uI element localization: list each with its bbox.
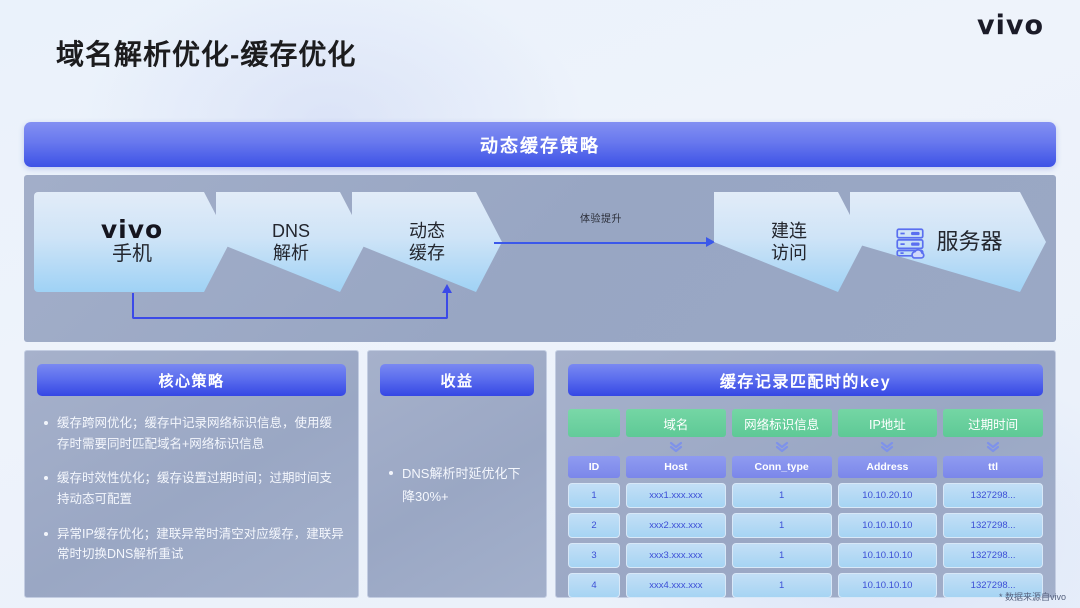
banner-title: 动态缓存策略 [480, 132, 600, 158]
key-mapping-arrows [568, 440, 1043, 454]
flow-step-2-line1: 动态 [409, 220, 445, 243]
arrow-head-icon [706, 237, 715, 247]
cell-host: xxx3.xxx.xxx [626, 543, 726, 568]
bullet-dot-icon [44, 532, 48, 536]
key-label-domain: 域名 [626, 409, 726, 437]
cache-key-header: 缓存记录匹配时的key [568, 364, 1043, 396]
cell-conn-type: 1 [732, 573, 832, 598]
core-strategy-title: 核心策略 [158, 370, 224, 391]
flow-step-dynamic-cache: 动态 缓存 [352, 192, 502, 292]
column-header-conn-type: Conn_type [732, 456, 832, 478]
footnote: * 数据来源自vivo [999, 590, 1066, 603]
flow-diagram-panel: vivo 手机 DNS 解析 动态 缓存 体验提升 建连 访问 [24, 175, 1056, 342]
cell-conn-type: 1 [732, 543, 832, 568]
chevron-down-icon [943, 440, 1043, 454]
arrow-line [494, 242, 712, 244]
list-item: DNS解析时延优化下降30%+ [386, 463, 532, 509]
cell-conn-type: 1 [732, 483, 832, 508]
cell-address: 10.10.10.10 [838, 543, 938, 568]
table-row: 4 xxx4.xxx.xxx 1 10.10.10.10 1327298... [568, 573, 1043, 598]
chevron-down-icon [732, 440, 832, 454]
column-header-address: Address [838, 456, 938, 478]
cache-key-card: 缓存记录匹配时的key 域名 网络标识信息 IP地址 过期时间 ID Host … [555, 350, 1056, 598]
key-label-expiry: 过期时间 [943, 409, 1043, 437]
page-title: 域名解析优化-缓存优化 [56, 33, 356, 73]
vivo-wordmark-icon: vivo [101, 217, 163, 242]
flow-step-1-line2: 解析 [273, 242, 309, 265]
list-item: 异常IP缓存优化；建联异常时清空对应缓存，建联异常时切换DNS解析重试 [41, 524, 344, 565]
bullet-dot-icon [44, 476, 48, 480]
spacer [568, 440, 620, 454]
feedback-loop-arrow [132, 293, 448, 319]
flow-step-4-label: 服务器 [936, 228, 1002, 256]
cell-id: 4 [568, 573, 620, 598]
list-item: 缓存跨网优化；缓存中记录网络标识信息，使用缓存时需要同时匹配域名+网络标识信息 [41, 413, 344, 454]
flow-step-vivo-phone: vivo 手机 [34, 192, 230, 292]
cell-address: 10.10.20.10 [838, 483, 938, 508]
flow-step-connect-access: 建连 访问 [714, 192, 864, 292]
core-strategy-header: 核心策略 [37, 364, 346, 396]
flow-step-3-line1: 建连 [771, 220, 807, 243]
list-item: 缓存时效性优化；缓存设置过期时间；过期时间支持动态可配置 [41, 468, 344, 509]
benefit-bullet-0: DNS解析时延优化下降30%+ [402, 463, 532, 509]
experience-improvement-arrow: 体验提升 [488, 192, 714, 292]
core-bullet-0: 缓存跨网优化；缓存中记录网络标识信息，使用缓存时需要同时匹配域名+网络标识信息 [57, 413, 344, 454]
core-strategy-bullets: 缓存跨网优化；缓存中记录网络标识信息，使用缓存时需要同时匹配域名+网络标识信息 … [41, 413, 344, 579]
cell-id: 1 [568, 483, 620, 508]
column-header-ttl: ttl [943, 456, 1043, 478]
table-row: 1 xxx1.xxx.xxx 1 10.10.20.10 1327298... [568, 483, 1043, 508]
key-label-network-id: 网络标识信息 [732, 409, 832, 437]
benefit-bullets: DNS解析时延优化下降30%+ [386, 463, 532, 523]
cell-conn-type: 1 [732, 513, 832, 538]
core-bullet-2: 异常IP缓存优化；建联异常时清空对应缓存，建联异常时切换DNS解析重试 [57, 524, 344, 565]
benefit-card: 收益 DNS解析时延优化下降30%+ [367, 350, 547, 598]
key-label-row: 域名 网络标识信息 IP地址 过期时间 [568, 409, 1043, 437]
cell-ttl: 1327298... [943, 483, 1043, 508]
table-row: 2 xxx2.xxx.xxx 1 10.10.10.10 1327298... [568, 513, 1043, 538]
key-label-id [568, 409, 620, 437]
cell-id: 2 [568, 513, 620, 538]
cell-address: 10.10.10.10 [838, 573, 938, 598]
bullet-dot-icon [44, 421, 48, 425]
flow-steps: vivo 手机 DNS 解析 动态 缓存 体验提升 建连 访问 [34, 192, 1046, 292]
chevron-down-icon [626, 440, 726, 454]
key-label-ip: IP地址 [838, 409, 938, 437]
table-header-row: ID Host Conn_type Address ttl [568, 456, 1043, 478]
core-bullet-1: 缓存时效性优化；缓存设置过期时间；过期时间支持动态可配置 [57, 468, 344, 509]
flow-step-dns-resolve: DNS 解析 [216, 192, 366, 292]
cell-host: xxx4.xxx.xxx [626, 573, 726, 598]
chevron-down-icon [838, 440, 938, 454]
cell-id: 3 [568, 543, 620, 568]
benefit-title: 收益 [440, 370, 473, 391]
flow-step-1-line1: DNS [272, 220, 310, 243]
cell-host: xxx2.xxx.xxx [626, 513, 726, 538]
benefit-header: 收益 [380, 364, 534, 396]
column-header-host: Host [626, 456, 726, 478]
cell-ttl: 1327298... [943, 543, 1043, 568]
cache-record-table: ID Host Conn_type Address ttl 1 xxx1.xxx… [568, 456, 1043, 603]
core-strategy-card: 核心策略 缓存跨网优化；缓存中记录网络标识信息，使用缓存时需要同时匹配域名+网络… [24, 350, 359, 598]
vivo-logo: vivo [977, 10, 1044, 41]
cell-host: xxx1.xxx.xxx [626, 483, 726, 508]
flow-step-3-line2: 访问 [771, 242, 807, 265]
dynamic-cache-strategy-banner: 动态缓存策略 [24, 122, 1056, 167]
flow-step-0-label: 手机 [112, 242, 152, 267]
server-icon [893, 225, 927, 259]
flow-step-server: 服务器 [850, 192, 1046, 292]
cell-address: 10.10.10.10 [838, 513, 938, 538]
column-header-id: ID [568, 456, 620, 478]
flow-step-2-line2: 缓存 [409, 242, 445, 265]
cell-ttl: 1327298... [943, 513, 1043, 538]
arrow-label: 体验提升 [580, 210, 622, 225]
cache-key-title: 缓存记录匹配时的key [720, 368, 891, 392]
bullet-dot-icon [389, 471, 393, 475]
table-row: 3 xxx3.xxx.xxx 1 10.10.10.10 1327298... [568, 543, 1043, 568]
